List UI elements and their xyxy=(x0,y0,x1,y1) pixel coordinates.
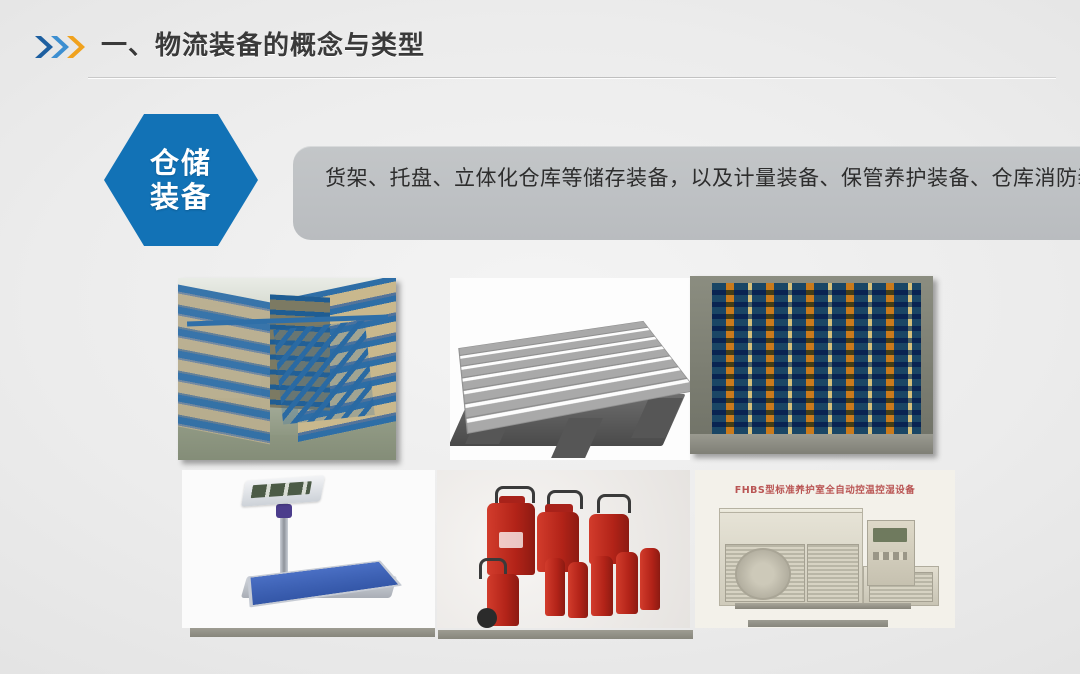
photo-fire-extinguishers xyxy=(437,470,690,628)
scale-display-screen xyxy=(251,481,312,498)
photo-automated-high-bay-warehouse xyxy=(690,276,933,454)
equipment-caption: FHBS型标准养护室全自动控温控湿设备 xyxy=(707,482,943,496)
photo-shadow-bar xyxy=(190,628,435,637)
photo-platform-weighing-scale xyxy=(182,470,435,628)
control-panel-display xyxy=(873,528,907,542)
photo-shadow-bar xyxy=(438,630,693,639)
photo-temperature-humidity-control-equipment: FHBS型标准养护室全自动控温控湿设备 xyxy=(695,470,955,628)
equipment-base xyxy=(735,603,911,609)
mezzanine-stair xyxy=(274,321,375,425)
scale-pole-collar xyxy=(276,504,292,518)
scale-platform xyxy=(247,560,402,607)
shelf-levels xyxy=(712,283,921,436)
photo-shadow-bar xyxy=(748,620,888,627)
slide: 一、物流装备的概念与类型 仓储 装备 货架、托盘、立体化仓库等储存装备，以及计量… xyxy=(0,0,1080,674)
extinguisher-small xyxy=(568,562,588,618)
extinguisher-handle xyxy=(597,494,631,513)
scale-display-head xyxy=(241,475,325,506)
control-panel-buttons xyxy=(873,552,907,560)
extinguisher-small xyxy=(591,556,613,616)
photo-wooden-pallet xyxy=(450,278,690,460)
extinguisher-label xyxy=(499,532,523,548)
photo-gallery: FHBS型标准养护室全自动控温控湿设备 xyxy=(0,0,1080,674)
extinguisher-small xyxy=(545,558,565,616)
rack-left xyxy=(178,283,270,444)
extinguisher-small xyxy=(640,548,660,610)
fan-icon xyxy=(735,548,791,600)
extinguisher-small xyxy=(616,552,638,614)
photo-warehouse-mezzanine-racking xyxy=(178,278,396,460)
trolley-wheel xyxy=(477,608,497,628)
floor xyxy=(690,434,933,454)
cabinet-grille xyxy=(807,544,859,602)
